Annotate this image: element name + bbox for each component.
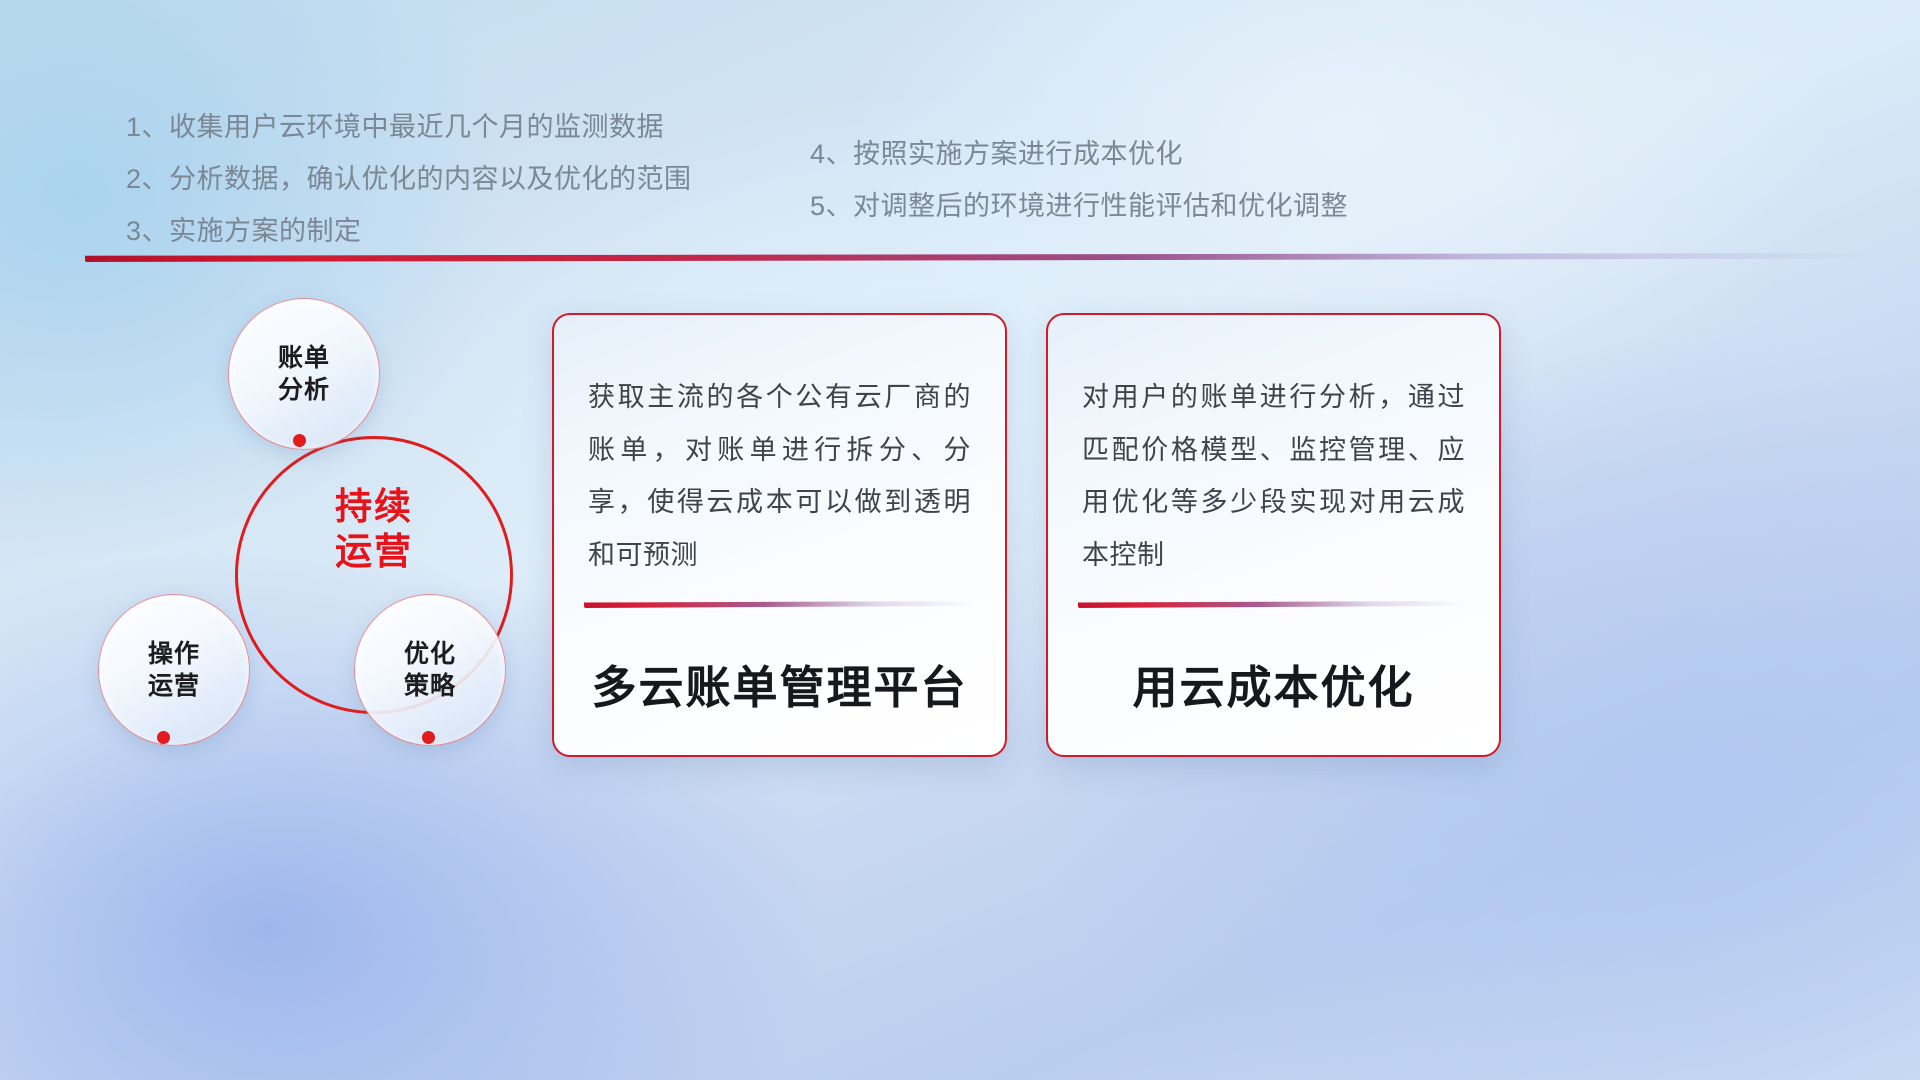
diagram-node-dot-bottom-left <box>157 731 170 744</box>
process-step-4-text: 按照实施方案进行成本优化 <box>853 141 1183 168</box>
diagram-bubble-optimization-strategy[interactable]: 优化 策略 <box>354 594 506 746</box>
process-steps-left-column: 1、收集用户云环境中最近几个月的监测数据 2、分析数据，确认优化的内容以及优化的… <box>126 101 692 257</box>
feature-card-multicloud-billing[interactable]: 获取主流的各个公有云厂商的账单，对账单进行拆分、分享，使得云成本可以做到透明和可… <box>552 313 1007 757</box>
process-step-3: 3、实施方案的制定 <box>126 205 692 257</box>
process-steps-right-column: 4、按照实施方案进行成本优化 5、对调整后的环境进行性能评估和优化调整 <box>810 128 1348 232</box>
feature-card-cost-optimization-body: 对用户的账单进行分析，通过匹配价格模型、监控管理、应用优化等多少段实现对用云成本… <box>1082 371 1465 582</box>
process-step-3-text: 实施方案的制定 <box>169 218 362 245</box>
process-step-1-number: 1、 <box>126 114 169 141</box>
diagram-node-dot-top <box>293 434 306 447</box>
feature-card-cost-optimization-divider <box>1078 601 1468 608</box>
feature-card-multicloud-billing-body: 获取主流的各个公有云厂商的账单，对账单进行拆分、分享，使得云成本可以做到透明和可… <box>588 371 971 582</box>
continuous-operation-diagram: 持续 运营 账单 分析 操作 运营 优化 策略 <box>80 288 550 768</box>
diagram-center-label-line1: 持续 <box>235 484 513 529</box>
process-step-5-number: 5、 <box>810 193 853 220</box>
bubble-2-line1: 操作 <box>148 638 200 670</box>
feature-card-multicloud-billing-title: 多云账单管理平台 <box>554 651 1005 716</box>
process-step-3-number: 3、 <box>126 218 169 245</box>
bubble-3-line2: 策略 <box>404 670 456 702</box>
diagram-node-dot-bottom-right <box>422 731 435 744</box>
bubble-3-line1: 优化 <box>404 638 456 670</box>
diagram-bubble-bill-analysis-label: 账单 分析 <box>278 342 330 406</box>
process-step-1-text: 收集用户云环境中最近几个月的监测数据 <box>169 114 664 141</box>
diagram-bubble-optimization-strategy-label: 优化 策略 <box>404 638 456 702</box>
bubble-2-line2: 运营 <box>148 670 200 702</box>
slide-canvas: 1、收集用户云环境中最近几个月的监测数据 2、分析数据，确认优化的内容以及优化的… <box>0 0 1920 1080</box>
feature-card-multicloud-billing-divider <box>584 601 974 608</box>
diagram-center-label: 持续 运营 <box>235 484 513 574</box>
diagram-center-label-line2: 运营 <box>235 529 513 574</box>
process-step-2-text: 分析数据，确认优化的内容以及优化的范围 <box>169 166 692 193</box>
diagram-bubble-operations-label: 操作 运营 <box>148 638 200 702</box>
process-step-5-text: 对调整后的环境进行性能评估和优化调整 <box>853 193 1348 220</box>
feature-card-cost-optimization-title: 用云成本优化 <box>1048 651 1499 716</box>
diagram-bubble-bill-analysis[interactable]: 账单 分析 <box>228 298 380 450</box>
process-step-4-number: 4、 <box>810 141 853 168</box>
process-step-4: 4、按照实施方案进行成本优化 <box>810 128 1348 180</box>
bubble-1-line2: 分析 <box>278 374 330 406</box>
bubble-1-line1: 账单 <box>278 342 330 374</box>
process-step-5: 5、对调整后的环境进行性能评估和优化调整 <box>810 180 1348 232</box>
feature-card-cost-optimization[interactable]: 对用户的账单进行分析，通过匹配价格模型、监控管理、应用优化等多少段实现对用云成本… <box>1046 313 1501 757</box>
process-step-2-number: 2、 <box>126 166 169 193</box>
process-step-2: 2、分析数据，确认优化的内容以及优化的范围 <box>126 153 692 205</box>
process-step-1: 1、收集用户云环境中最近几个月的监测数据 <box>126 101 692 153</box>
diagram-bubble-operations[interactable]: 操作 运营 <box>98 594 250 746</box>
